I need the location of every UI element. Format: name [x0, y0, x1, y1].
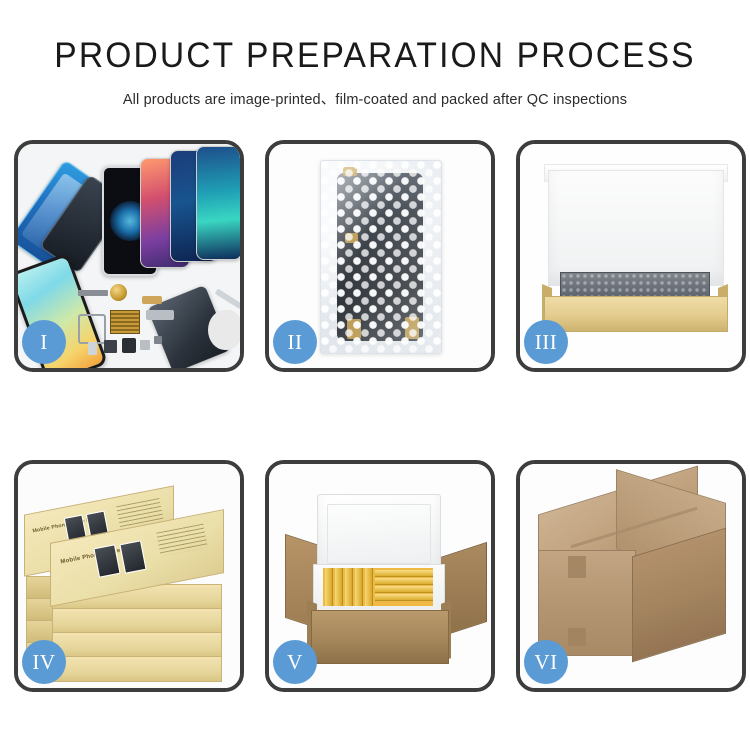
- plastic-sheen-icon: [321, 161, 441, 353]
- yellow-boxes-inside-icon: [323, 568, 433, 606]
- gold-coil-icon: [110, 284, 127, 301]
- step-panel-6: VI: [516, 460, 746, 692]
- process-step-grid: I II: [14, 140, 736, 705]
- product-preparation-infographic: PRODUCT PREPARATION PROCESS All products…: [0, 0, 750, 750]
- page-subtitle: All products are image-printed、film-coat…: [0, 88, 750, 109]
- small-part-4-icon: [140, 340, 150, 350]
- part-chip-icon: [78, 290, 108, 296]
- stack-box-front-2-icon: [52, 632, 222, 658]
- small-part-3-icon: [122, 338, 136, 353]
- step-image-1: I: [18, 144, 240, 368]
- step-panel-2: II: [265, 140, 495, 372]
- yellow-box-face-1-icon: [375, 570, 433, 577]
- step-image-3: III: [520, 144, 742, 368]
- step-panel-5: V: [265, 460, 495, 692]
- yellow-box-edge-2-icon: [335, 568, 343, 606]
- step-panel-1: I: [14, 140, 244, 372]
- flex-cable-loop-icon: [78, 314, 106, 344]
- yellow-box-face-4-icon: [375, 594, 433, 601]
- small-part-5-icon: [154, 336, 162, 344]
- step-image-4: Mobile Phone Spare Parts Mobile Phone Sp…: [18, 464, 240, 688]
- header: PRODUCT PREPARATION PROCESS All products…: [0, 0, 750, 109]
- step-image-5: V: [269, 464, 491, 688]
- gold-contact-pad-icon: [110, 310, 140, 334]
- foam-lid-icon: [317, 494, 441, 574]
- yellow-box-edge-1-icon: [325, 568, 333, 606]
- step-badge-3: III: [524, 320, 568, 364]
- teal-phone-screen-icon: [196, 146, 240, 260]
- yellow-box-edge-4-icon: [355, 568, 363, 606]
- step-badge-1: I: [22, 320, 66, 364]
- bubble-wrap-bag-icon: [320, 160, 442, 354]
- tweezers-icon: [215, 289, 240, 310]
- white-box-lid-icon: [548, 170, 724, 286]
- step-badge-4: IV: [22, 640, 66, 684]
- yellow-box-edge-3-icon: [345, 568, 353, 606]
- step-image-2: II: [269, 144, 491, 368]
- small-part-1-icon: [88, 342, 97, 355]
- gold-flex-tab-icon: [142, 296, 162, 304]
- step-image-6: VI: [520, 464, 742, 688]
- stack-box-front-3-icon: [52, 608, 222, 634]
- carton-tape-lower-icon: [568, 628, 586, 646]
- carton-front-panel-icon: [311, 610, 449, 664]
- carton-tape-upper-icon: [568, 556, 586, 578]
- stack-box-front-1-icon: [52, 656, 222, 682]
- step-badge-6: VI: [524, 640, 568, 684]
- page-title: PRODUCT PREPARATION PROCESS: [15, 38, 735, 73]
- technician-hand-icon: [208, 310, 240, 350]
- yellow-box-face-3-icon: [375, 586, 433, 593]
- flex-cable-strip-icon: [146, 310, 174, 320]
- yellow-box-edge-5-icon: [365, 568, 373, 606]
- step-panel-4: Mobile Phone Spare Parts Mobile Phone Sp…: [14, 460, 244, 692]
- step-panel-3: III: [516, 140, 746, 372]
- step-badge-5: V: [273, 640, 317, 684]
- step-badge-2: II: [273, 320, 317, 364]
- kraft-box-front-icon: [544, 296, 728, 332]
- yellow-box-face-2-icon: [375, 578, 433, 585]
- small-part-2-icon: [104, 340, 117, 353]
